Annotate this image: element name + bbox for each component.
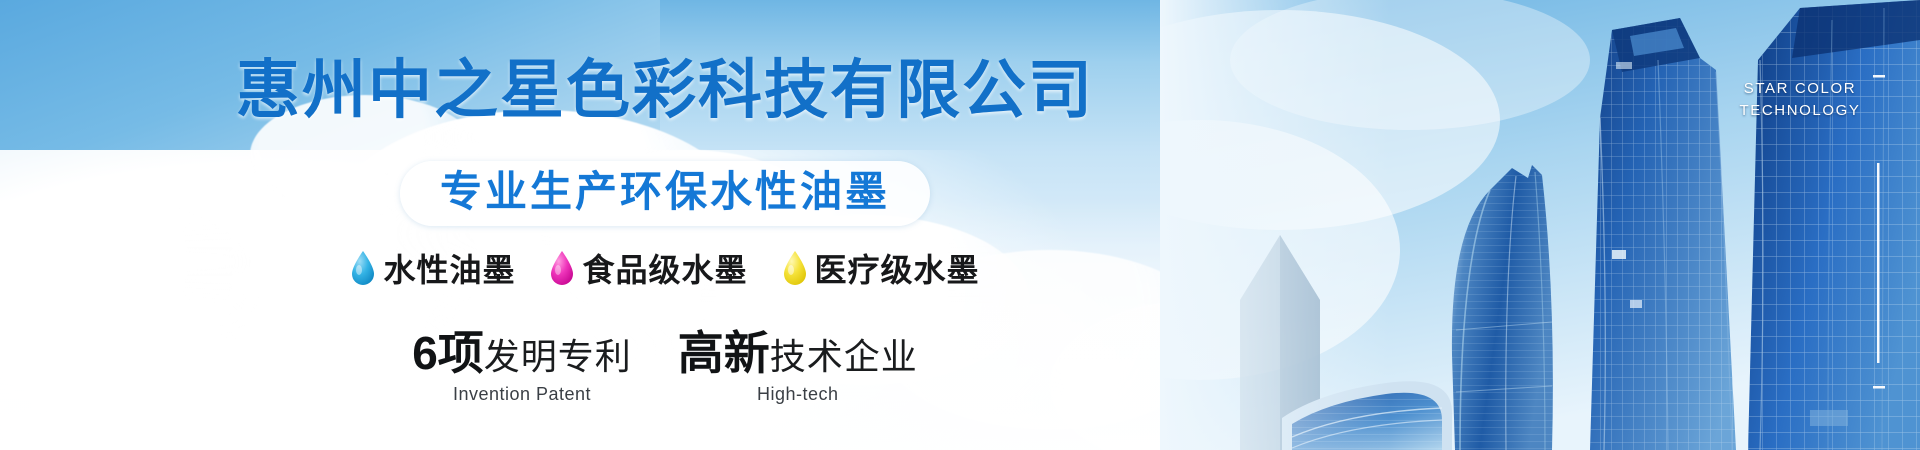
badge-strong-text: 6项 — [412, 327, 484, 379]
brand-tick-bottom — [1873, 386, 1885, 389]
slogan-pill: 专业生产环保水性油墨 — [400, 161, 930, 226]
building-brand-line1: STAR COLOR — [1710, 78, 1890, 100]
feature-item-waterbased-ink: 水性油墨 — [350, 245, 515, 291]
building-right-brand — [1748, 0, 1920, 450]
badge-rest-text: 发明专利 — [484, 336, 632, 377]
badge-chinese-line: 高新技术企业 — [678, 330, 918, 376]
feature-label: 医疗级水墨 — [815, 245, 980, 291]
banner-content: 惠州中之星色彩科技有限公司 专业生产环保水性油墨 水性油 — [0, 0, 1330, 450]
building-brand-label: STAR COLOR TECHNOLOGY — [1710, 78, 1890, 122]
building-brand-line2: TECHNOLOGY — [1710, 100, 1890, 122]
water-drop-icon — [350, 250, 376, 286]
badge-strong-text: 高新 — [678, 327, 770, 379]
company-title: 惠州中之星色彩科技有限公司 — [0, 58, 1330, 122]
credential-badges: 6项发明专利 Invention Patent 高新技术企业 High-tech — [0, 330, 1330, 405]
feature-list: 水性油墨 食品级水墨 — [0, 245, 1330, 291]
water-drop-icon — [782, 250, 808, 286]
badge-invention-patent: 6项发明专利 Invention Patent — [412, 330, 632, 405]
badge-english-text: Invention Patent — [412, 384, 632, 405]
feature-label: 食品级水墨 — [582, 245, 747, 291]
promotional-banner: STAR COLOR TECHNOLOGY Star Color 惠州中之星色彩… — [0, 0, 1920, 450]
brand-rule — [1877, 163, 1880, 363]
water-drop-icon — [549, 250, 575, 286]
badge-rest-text: 技术企业 — [770, 336, 918, 377]
slogan-text: 专业生产环保水性油墨 — [440, 170, 890, 214]
badge-high-tech: 高新技术企业 High-tech — [678, 330, 918, 405]
feature-label: 水性油墨 — [383, 245, 515, 291]
feature-item-medical-grade-ink: 医疗级水墨 — [782, 245, 980, 291]
badge-chinese-line: 6项发明专利 — [412, 330, 632, 376]
badge-english-text: High-tech — [678, 384, 918, 405]
feature-item-food-grade-ink: 食品级水墨 — [549, 245, 747, 291]
